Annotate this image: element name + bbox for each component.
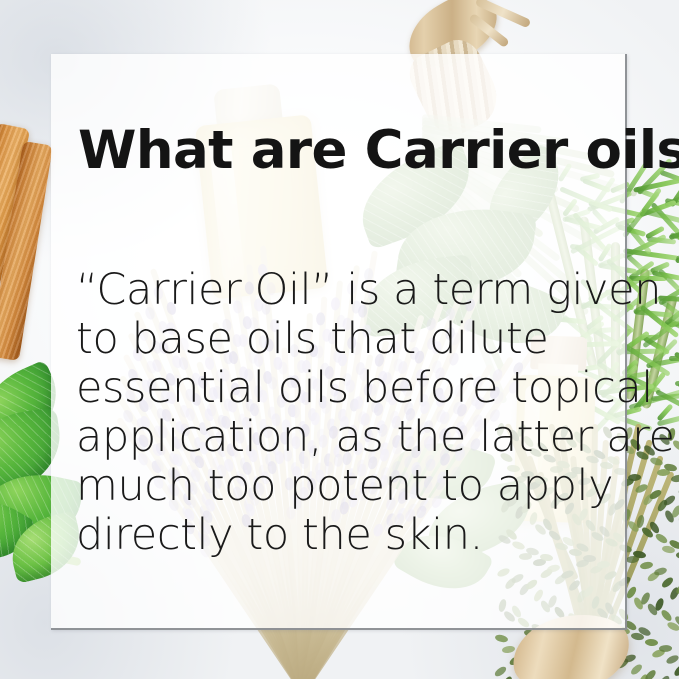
thyme-leaf [671,475,679,483]
page-title: What are Carrier oils ? [78,121,618,181]
thyme-leaf [657,674,671,679]
thyme-leaf [659,644,673,652]
rosemary-needle [669,356,679,361]
body-line: to base oils that dilute [76,315,622,364]
thyme-leaf [660,608,673,623]
body-paragraph: “Carrier Oil” is a term givento base oil… [76,266,622,560]
thyme-leaf [653,567,667,576]
body-line: directly to the skin. [76,511,622,560]
thyme-leaf [629,663,644,676]
thyme-leaf [644,638,658,647]
rosemary-needle [675,243,679,264]
thyme-leaf [502,646,515,653]
thyme-leaf [501,675,514,679]
text-layer: What are Carrier oils ? “Carrier Oil” is… [51,54,627,630]
thyme-leaf [660,576,675,589]
thyme-leaf [640,562,653,570]
body-line: application, as the latter are [76,413,622,462]
thyme-leaf [665,654,679,665]
body-line: much too potent to apply [76,462,622,511]
thyme-leaf [672,664,679,678]
thyme-leaf [493,665,508,678]
rosemary-needle [675,379,679,387]
infographic-canvas: What are Carrier oils ? “Carrier Oil” is… [0,0,679,679]
body-line: “Carrier Oil” is a term given [76,266,622,315]
thyme-leaf [494,633,509,644]
thyme-leaf [675,551,679,561]
body-line: essential oils before topical [76,364,622,413]
